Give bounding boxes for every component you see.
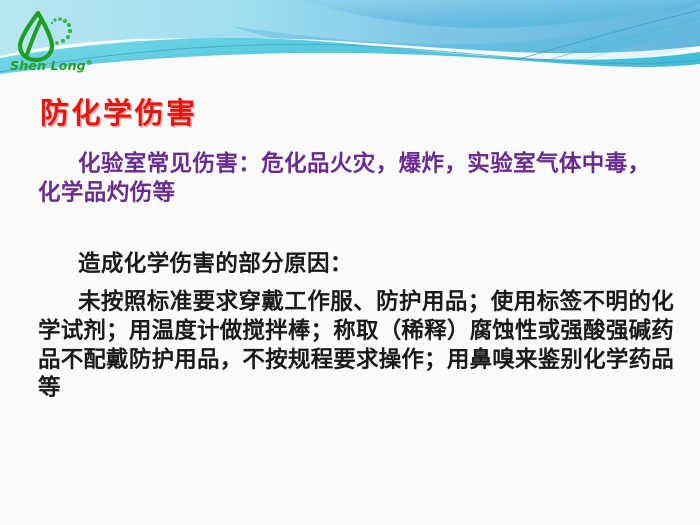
logo-wordmark-text: Shen Long	[10, 58, 86, 73]
common-injuries-paragraph: 化验室常见伤害：危化品火灾，爆炸，实验室气体中毒，化学品灼伤等	[38, 150, 668, 208]
logo-wordmark: Shen Long®	[10, 58, 93, 73]
causes-body-paragraph: 未按照标准要求穿戴工作服、防护用品；使用标签不明的化学试剂；用温度计做搅拌棒；称…	[38, 288, 674, 403]
header-wave-graphic	[0, 0, 700, 92]
green-water-droplet-logo-icon	[8, 10, 80, 62]
company-logo: Shen Long®	[8, 10, 86, 84]
causes-heading: 造成化学伤害的部分原因：	[38, 250, 668, 279]
header-wave-banner	[0, 0, 700, 92]
presentation-slide: Shen Long® 防化学伤害 化验室常见伤害：危化品火灾，爆炸，实验室气体中…	[0, 0, 700, 525]
slide-title: 防化学伤害	[40, 90, 198, 132]
registered-trademark-symbol: ®	[86, 59, 93, 67]
